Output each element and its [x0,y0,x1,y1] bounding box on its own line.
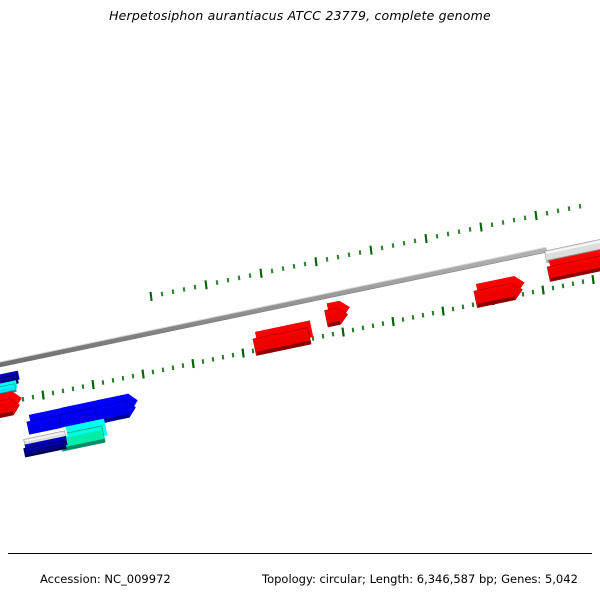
tick-minor [222,355,225,360]
gene-red-mid-1 [252,320,315,355]
genome-map-canvas[interactable] [0,40,600,550]
tick-minor [337,255,340,260]
tick-minor [582,279,585,284]
tick-minor [458,229,461,234]
tick-minor [22,397,25,402]
tick-minor [552,286,555,291]
tick-minor [447,232,450,237]
tick-minor [271,269,274,274]
tick-minor [72,386,75,391]
tick-minor [232,353,235,358]
tick-minor [382,321,385,326]
tick-major [341,327,344,336]
tick-minor [562,283,565,288]
tick-major [314,257,317,266]
tick-minor [249,273,252,278]
tick-minor [372,323,375,328]
tick-minor [524,215,527,220]
tick-minor [462,304,465,309]
tick-minor [132,374,135,379]
tick-minor [352,328,355,333]
tick-minor [452,307,455,312]
tick-minor [513,218,516,223]
tick-major [424,234,427,243]
tick-minor [472,302,475,307]
tick-minor [227,278,230,283]
tick-minor [502,220,505,225]
gene-blue-c [93,392,140,424]
genome-axis [0,236,600,367]
tick-minor [348,252,351,257]
tick-major [591,275,594,284]
tick-minor [112,378,115,383]
tick-minor [322,334,325,339]
tick-minor [304,262,307,267]
tick-minor [557,209,560,214]
tick-minor [412,315,415,320]
tick-minor [436,234,439,239]
tick-minor [122,376,125,381]
tick-major [204,280,207,289]
tick-minor [183,287,186,292]
tick-minor [402,317,405,322]
tick-minor [32,395,35,400]
tick-minor [432,311,435,316]
tick-minor [182,363,185,368]
tick-minor [216,280,219,285]
footer-divider [8,553,592,554]
gene-red-right [472,274,527,308]
tick-minor [172,365,175,370]
tick-major [241,348,244,357]
tick-minor [522,292,525,297]
tick-major [479,222,482,231]
tick-marks [0,204,600,410]
axis-backbone [0,236,600,367]
tick-major [91,380,94,389]
tick-minor [102,380,105,385]
tick-minor [202,359,205,364]
tick-minor [532,290,535,295]
tick-minor [212,357,215,362]
tick-major [141,369,144,378]
tick-minor [572,281,575,286]
tick-major [541,285,544,294]
tick-major [369,246,372,255]
gene-red-small [323,299,353,327]
footer-bar: Accession: NC_009972 Topology: circular;… [0,572,600,592]
gene-edge-left-red [0,390,25,421]
tick-minor [238,276,241,281]
tick-minor [52,391,55,396]
tick-minor [579,204,582,209]
tick-major [41,390,44,399]
genome-viewer: Herpetosiphon aurantiacus ATCC 23779, co… [0,0,600,600]
tick-minor [422,313,425,318]
tick-minor [381,245,384,250]
page-title: Herpetosiphon aurantiacus ATCC 23779, co… [0,8,600,23]
tick-minor [546,211,549,216]
tick-minor [326,257,329,262]
tick-major [391,317,394,326]
genome-map-svg[interactable] [0,40,600,550]
tick-minor [152,370,155,375]
tick-minor [332,332,335,337]
tick-minor [293,264,296,269]
tick-minor [252,349,255,354]
tick-major [191,359,194,368]
tick-minor [403,241,406,246]
tick-major [149,292,152,301]
tick-minor [568,206,571,211]
tick-minor [469,227,472,232]
topology-text: Topology: circular; Length: 6,346,587 bp… [262,572,578,586]
tick-minor [282,266,285,271]
tick-minor [491,222,494,227]
tick-minor [172,289,175,294]
tick-minor [161,292,164,297]
tick-major [534,211,537,220]
tick-minor [194,285,197,290]
tick-minor [392,243,395,248]
tick-minor [82,384,85,389]
tick-minor [414,239,417,244]
tick-minor [362,325,365,330]
accession-text: Accession: NC_009972 [40,572,171,586]
tick-minor [359,250,362,255]
tick-major [259,269,262,278]
tick-minor [162,367,165,372]
tick-major [441,306,444,315]
tick-minor [62,388,65,393]
